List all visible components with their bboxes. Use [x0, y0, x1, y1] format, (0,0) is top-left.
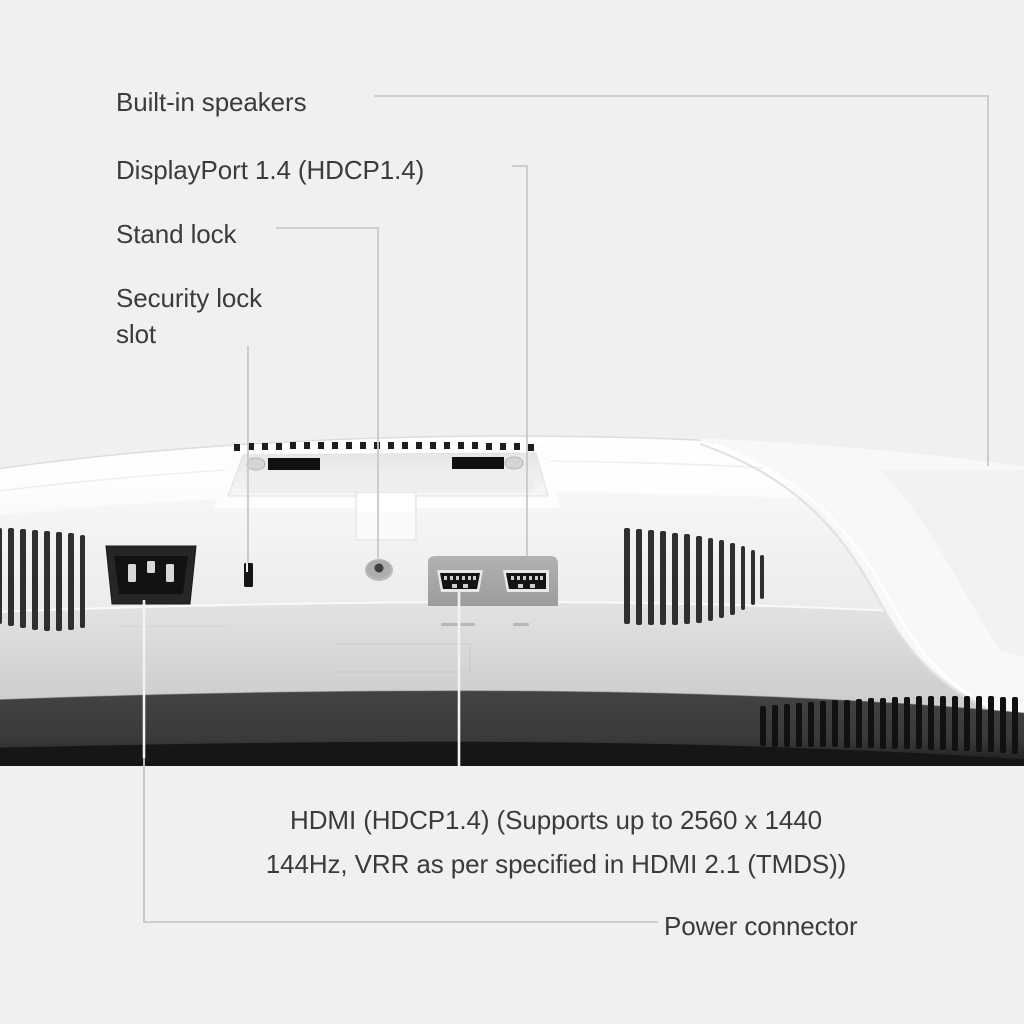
power-connector-port — [106, 546, 196, 604]
callout-label-hdmi: HDMI (HDCP1.4) (Supports up to 2560 x 14… — [186, 798, 926, 886]
stand-lock-screw — [365, 559, 393, 581]
callout-label-security-lock-slot: Security lock slot — [116, 280, 262, 352]
displayport-port — [503, 570, 549, 592]
security-lock-slot-port — [244, 563, 253, 587]
diagram-canvas: Built-in speakers DisplayPort 1.4 (HDCP1… — [0, 0, 1024, 1024]
callout-label-power-connector: Power connector — [664, 908, 858, 944]
vesa-mount-left — [268, 458, 320, 470]
hdmi-port — [437, 570, 483, 592]
vesa-mount-right — [452, 457, 504, 469]
mount-pin-left — [247, 458, 265, 470]
callout-label-stand-lock: Stand lock — [116, 216, 236, 252]
callout-label-displayport: DisplayPort 1.4 (HDCP1.4) — [116, 152, 424, 188]
callout-label-built-in-speakers: Built-in speakers — [116, 84, 307, 120]
mount-pin-right — [505, 457, 523, 469]
